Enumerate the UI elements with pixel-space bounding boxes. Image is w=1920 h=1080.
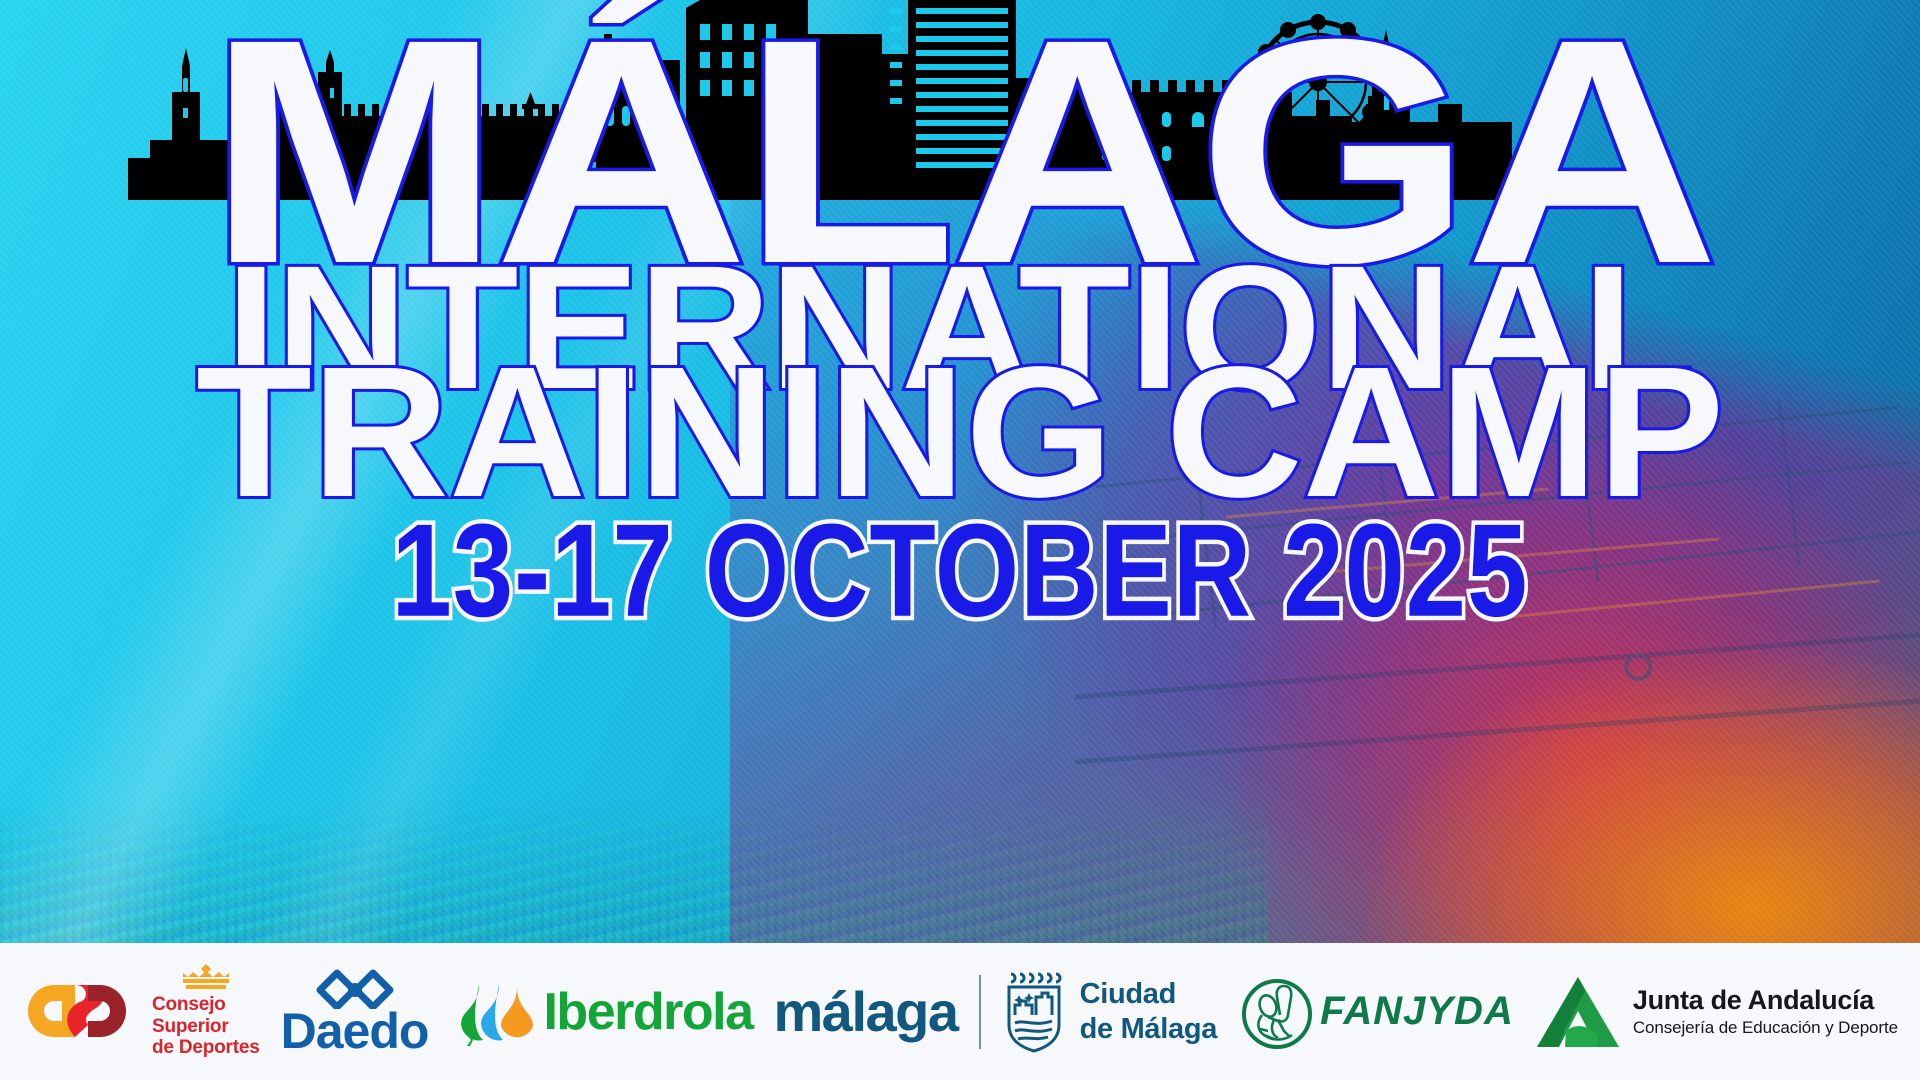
malaga-wordmark: málaga <box>774 980 958 1043</box>
fanjyda-wordmark: FANJYDA <box>1320 989 1514 1034</box>
sponsor-logo-fanjyda[interactable]: FANJYDA <box>1238 973 1514 1051</box>
sponsor-logo-malaga[interactable]: málaga <box>774 979 958 1044</box>
sponsor-logo-iberdrola[interactable]: Iberdrola <box>449 976 752 1048</box>
ciudad-line1: Ciudad <box>1080 977 1218 1011</box>
fanjyda-judoka-icon <box>1238 973 1316 1051</box>
andalucia-a-icon <box>1535 973 1621 1051</box>
sponsor-logo-daedo[interactable]: Daedo <box>281 969 429 1054</box>
junta-line2: Consejería de Educación y Deporte <box>1633 1018 1898 1038</box>
ciudad-line2: de Málaga <box>1080 1012 1218 1046</box>
sponsor-footer: Consejo Superior de Deportes Daedo <box>0 943 1920 1080</box>
iberdrola-droplets-icon <box>449 976 533 1048</box>
csd-infinity-icon <box>22 975 140 1049</box>
title-line-training-camp: TRAINING CAMP <box>196 357 1724 510</box>
junta-line1: Junta de Andalucía <box>1633 985 1898 1016</box>
csd-line2: Superior <box>152 1016 260 1038</box>
event-dates: 13-17 OCTOBER 2025 <box>392 495 1529 647</box>
csd-line3: de Deportes <box>152 1037 260 1059</box>
footer-divider <box>979 975 981 1049</box>
title-block: MÁLAGA INTERNATIONAL TRAINING CAMP 13-17… <box>0 0 1920 945</box>
poster-canvas: MÁLAGA INTERNATIONAL TRAINING CAMP 13-17… <box>0 0 1920 1080</box>
sponsor-logo-csd[interactable]: Consejo Superior de Deportes <box>22 964 260 1059</box>
csd-line1: Consejo <box>152 994 260 1016</box>
malaga-crest-icon <box>1002 971 1066 1053</box>
daedo-wordmark: Daedo <box>281 1009 429 1054</box>
sponsor-logo-junta-de-andalucia[interactable]: Junta de Andalucía Consejería de Educaci… <box>1535 973 1898 1051</box>
sponsor-logo-ciudad-de-malaga[interactable]: Ciudad de Málaga <box>1002 971 1218 1053</box>
iberdrola-wordmark: Iberdrola <box>543 982 752 1042</box>
csd-crown-icon <box>173 964 239 990</box>
